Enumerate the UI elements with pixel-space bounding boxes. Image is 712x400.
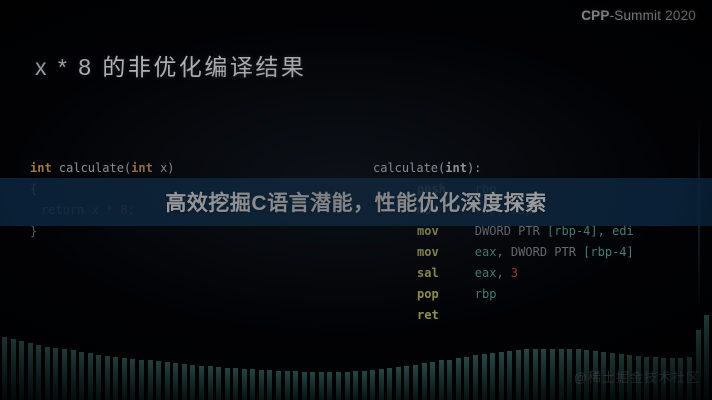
chart-bar: [362, 371, 367, 400]
conference-logo-bold: CPP: [581, 8, 609, 23]
chart-bar: [225, 368, 230, 400]
code-line: mov eax, DWORD PTR [rbp-4]: [373, 242, 634, 263]
chart-bar: [28, 343, 33, 400]
chart-bar: [233, 368, 238, 400]
code-token: [rbp-4]: [583, 245, 634, 259]
code-token: ):: [467, 161, 481, 175]
code-token: mov: [417, 245, 475, 259]
chart-bar: [250, 369, 255, 400]
code-token: eax,: [475, 245, 511, 259]
code-token: [rbp-4], edi: [547, 224, 634, 238]
code-line: calculate(int):: [373, 158, 634, 179]
chart-bar: [310, 372, 315, 400]
chart-bar: [413, 365, 418, 400]
assembly-code-panel: calculate(int):push rbpmov rbp, rspmov D…: [373, 116, 634, 368]
overlay-banner: 高效挖掘C语言潜能，性能优化深度探索: [0, 178, 712, 226]
code-token: ret: [417, 308, 439, 322]
chart-bar: [319, 372, 324, 400]
chart-bar: [79, 352, 84, 400]
chart-bar: [88, 353, 93, 400]
chart-bar: [285, 371, 290, 400]
chart-bar: [11, 339, 16, 400]
chart-bar: [216, 367, 221, 400]
code-line: pop rbp: [373, 284, 634, 305]
conference-logo: CPP-Summit 2020: [581, 8, 696, 23]
chart-bar: [2, 337, 7, 400]
chart-bar: [267, 370, 272, 400]
chart-bar: [36, 345, 41, 400]
chart-bar: [19, 341, 24, 400]
chart-bar: [259, 370, 264, 400]
chart-bar: [396, 367, 401, 400]
chart-bar: [62, 349, 67, 400]
code-token: calculate(: [373, 161, 445, 175]
code-token: int: [30, 161, 52, 175]
chart-bar: [345, 372, 350, 400]
chart-bar: [370, 370, 375, 400]
chart-bar: [182, 364, 187, 400]
chart-bar: [105, 356, 110, 400]
chart-bar: [696, 330, 701, 400]
chart-bar: [276, 371, 281, 400]
chart-bar: [156, 361, 161, 400]
chart-bar: [130, 359, 135, 400]
chart-bar: [53, 348, 58, 400]
chart-bar: [165, 362, 170, 400]
code-token: DWORD PTR: [475, 224, 547, 238]
code-token: }: [30, 224, 37, 238]
code-token: x): [153, 161, 175, 175]
chart-bar: [139, 360, 144, 400]
chart-bar: [242, 369, 247, 400]
chart-bar: [96, 355, 101, 400]
page-title: x * 8 的非优化编译结果: [35, 48, 306, 82]
code-token: pop: [417, 287, 475, 301]
chart-bar: [173, 363, 178, 400]
chart-bar: [387, 368, 392, 400]
slide-screenshot: int calculate(int x){return x * 8;} calc…: [0, 0, 712, 400]
code-token: calculate(: [52, 161, 131, 175]
chart-bar: [148, 360, 153, 400]
chart-bar: [208, 366, 213, 400]
chart-bar: [327, 372, 332, 400]
watermark: @稀土掘金技术社区: [574, 367, 700, 386]
code-token: DWORD PTR: [511, 245, 583, 259]
code-token: eax,: [475, 266, 511, 280]
chart-bar: [113, 357, 118, 400]
chart-bar: [302, 372, 307, 400]
code-token: int: [445, 161, 467, 175]
chart-bar: [199, 366, 204, 400]
code-token: mov: [417, 224, 475, 238]
chart-bar: [190, 365, 195, 400]
chart-bar: [404, 366, 409, 400]
code-line: sal eax, 3: [373, 263, 634, 284]
chart-bar: [704, 315, 709, 400]
conference-logo-rest: -Summit 2020: [610, 8, 696, 23]
chart-bar: [45, 347, 50, 400]
chart-bar: [71, 350, 76, 400]
chart-bar: [353, 371, 358, 400]
chart-bar: [379, 369, 384, 400]
code-line: ret: [373, 305, 634, 326]
chart-bar: [122, 358, 127, 400]
chart-bar: [422, 363, 427, 400]
chart-bar: [336, 372, 341, 400]
code-token: int: [131, 161, 153, 175]
chart-bar: [293, 371, 298, 400]
code-token: rbp: [475, 287, 497, 301]
code-token: sal: [417, 266, 475, 280]
code-line: int calculate(int x): [30, 158, 175, 179]
code-token: 3: [511, 266, 518, 280]
overlay-banner-text: 高效挖掘C语言潜能，性能优化深度探索: [165, 187, 546, 217]
